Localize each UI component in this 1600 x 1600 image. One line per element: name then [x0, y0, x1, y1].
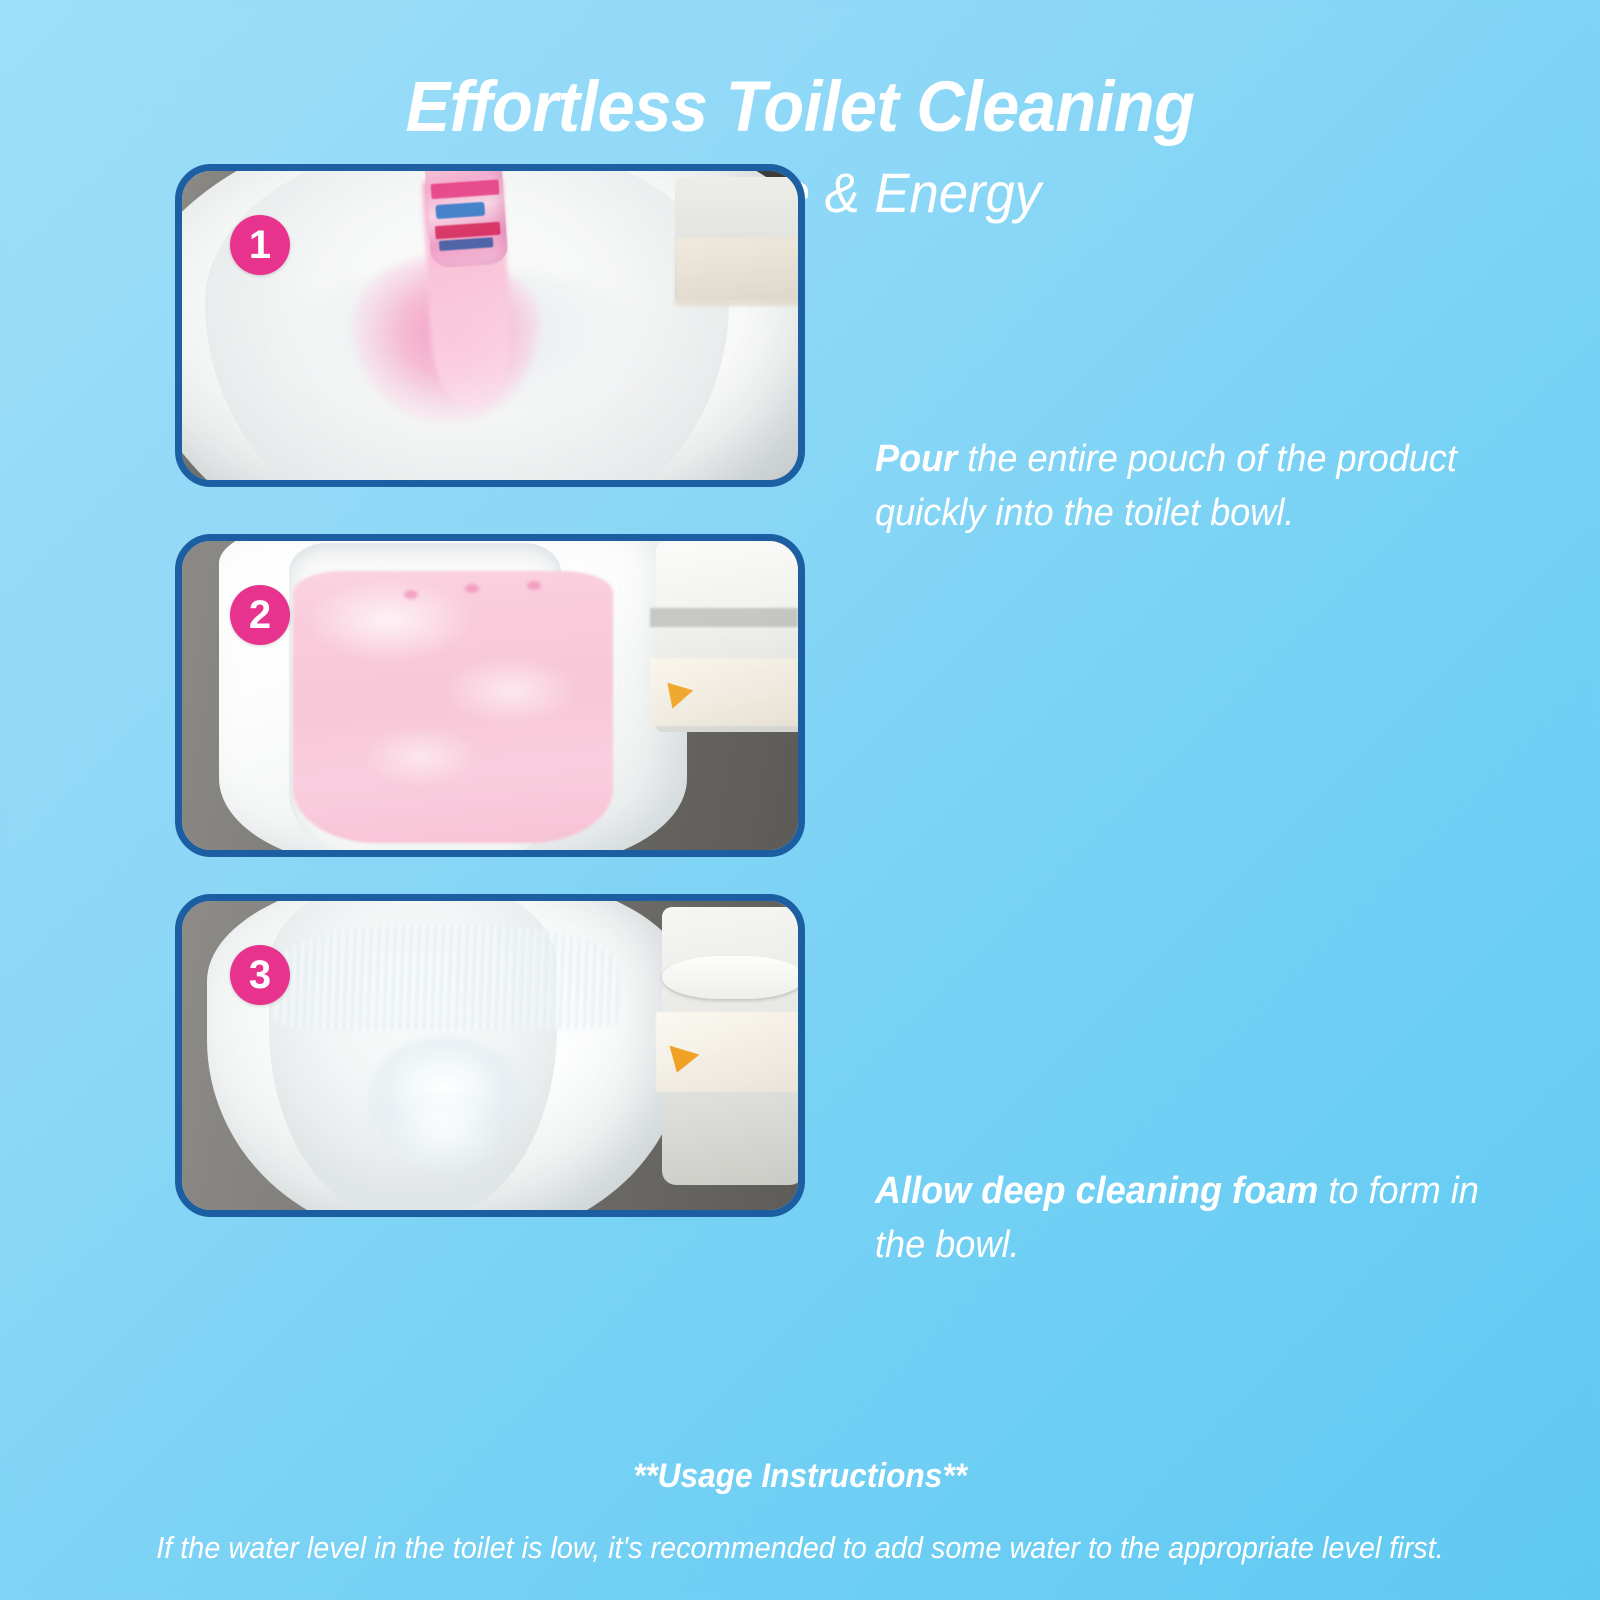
foam-bubble	[527, 581, 541, 590]
photo-foam	[182, 541, 798, 850]
step-body-1: the entire pouch of the product quickly …	[875, 438, 1457, 534]
foam-bubble	[404, 590, 418, 599]
footer: **Usage Instructions** If the water leve…	[0, 1457, 1600, 1566]
footer-title: **Usage Instructions**	[56, 1457, 1544, 1496]
step-image-card-2: 2	[175, 534, 805, 857]
flush-water-sheet	[274, 925, 619, 1030]
trash-bag	[675, 238, 798, 306]
water-swirl-secondary	[385, 1092, 502, 1172]
trash-bin-lid	[662, 956, 798, 999]
photo-flush	[182, 901, 798, 1210]
step-badge-2: 2	[230, 585, 290, 645]
step-image-card-1: 1	[175, 164, 805, 487]
step-description-2: Allow deep cleaning foam to form in the …	[875, 1165, 1493, 1273]
step-description-1: Pour the entire pouch of the product qui…	[875, 433, 1493, 541]
product-pouch	[425, 171, 509, 269]
page-title: Effortless Toilet Cleaning	[48, 72, 1552, 143]
step-badge-1: 1	[230, 215, 290, 275]
step-keyword-1: Pour	[875, 438, 957, 480]
pouch-label-band-2	[435, 202, 485, 219]
footer-note: If the water level in the toilet is low,…	[56, 1530, 1544, 1566]
pouch-label-band-1	[431, 180, 500, 199]
foam-bubble	[465, 584, 479, 593]
step-keyword-2: Allow deep cleaning foam	[875, 1170, 1318, 1212]
pouch-label-band-4	[439, 237, 493, 251]
step-image-card-3: 3	[175, 894, 805, 1217]
pink-foam	[293, 571, 613, 843]
trash-bin-rim	[650, 608, 798, 627]
photo-pour	[182, 171, 798, 480]
step-badge-3: 3	[230, 945, 290, 1005]
